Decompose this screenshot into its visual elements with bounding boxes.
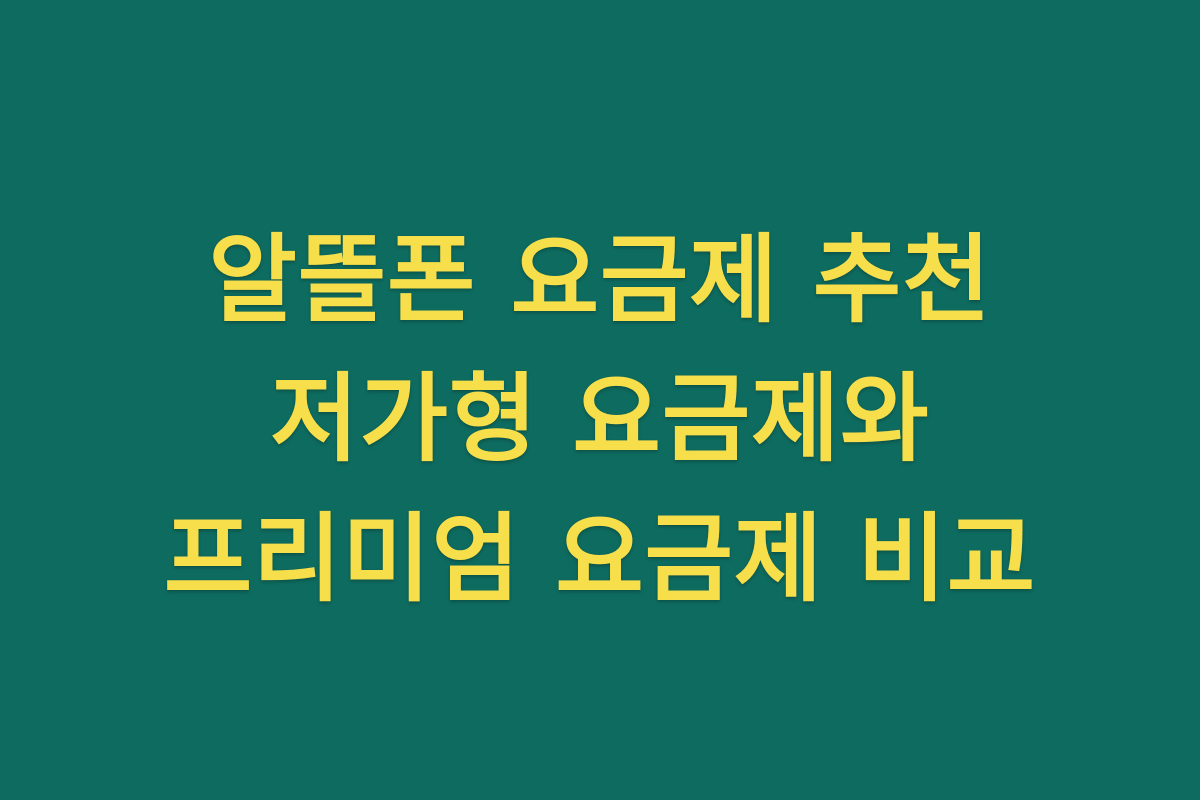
page-title: 알뜰폰 요금제 추천 저가형 요금제와 프리미엄 요금제 비교 xyxy=(90,211,1110,629)
title-block: 알뜰폰 요금제 추천 저가형 요금제와 프리미엄 요금제 비교 xyxy=(90,211,1110,629)
thumbnail-canvas: 알뜰폰 요금제 추천 저가형 요금제와 프리미엄 요금제 비교 xyxy=(0,0,1200,800)
